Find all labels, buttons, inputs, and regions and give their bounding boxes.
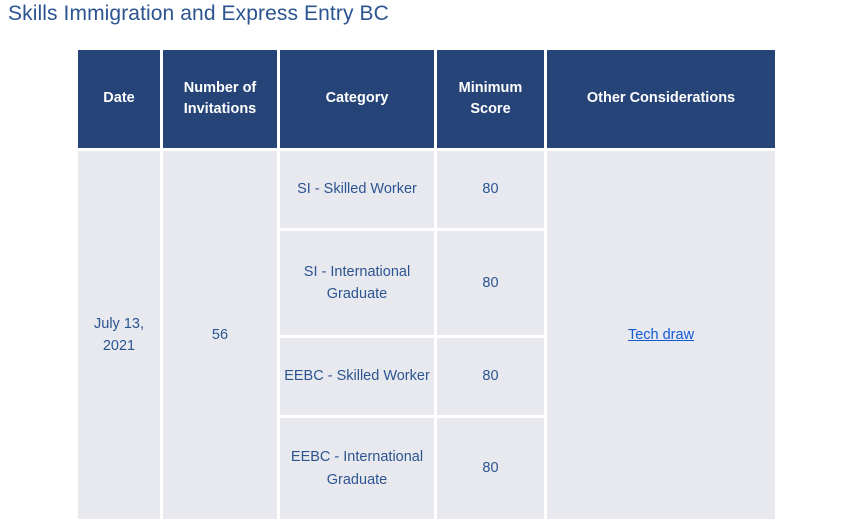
cell-category: SI - Skilled Worker: [280, 151, 434, 228]
table-row: July 13, 2021 56 SI - Skilled Worker 80 …: [78, 151, 775, 228]
table-header: Date Number of Invitations Category Mini…: [78, 50, 775, 148]
table-header-row: Date Number of Invitations Category Mini…: [78, 50, 775, 148]
column-header-date: Date: [78, 50, 160, 148]
cell-number-of-invitations: 56: [163, 151, 277, 519]
cell-minimum-score: 80: [437, 231, 544, 335]
cell-minimum-score: 80: [437, 338, 544, 415]
page-title: Skills Immigration and Express Entry BC: [8, 2, 389, 26]
cell-date: July 13, 2021: [78, 151, 160, 519]
column-header-category: Category: [280, 50, 434, 148]
cell-minimum-score: 80: [437, 418, 544, 519]
draw-table-container: Date Number of Invitations Category Mini…: [78, 50, 775, 519]
cell-category: EEBC - Skilled Worker: [280, 338, 434, 415]
cell-minimum-score: 80: [437, 151, 544, 228]
immigration-draw-table: Date Number of Invitations Category Mini…: [75, 47, 778, 522]
table-body: July 13, 2021 56 SI - Skilled Worker 80 …: [78, 151, 775, 519]
tech-draw-link[interactable]: Tech draw: [628, 327, 694, 343]
column-header-other-considerations: Other Considerations: [547, 50, 775, 148]
cell-category: EEBC - International Graduate: [280, 418, 434, 519]
cell-category: SI - International Graduate: [280, 231, 434, 335]
cell-other-considerations: Tech draw: [547, 151, 775, 519]
column-header-minimum-score: Minimum Score: [437, 50, 544, 148]
column-header-number-of-invitations: Number of Invitations: [163, 50, 277, 148]
